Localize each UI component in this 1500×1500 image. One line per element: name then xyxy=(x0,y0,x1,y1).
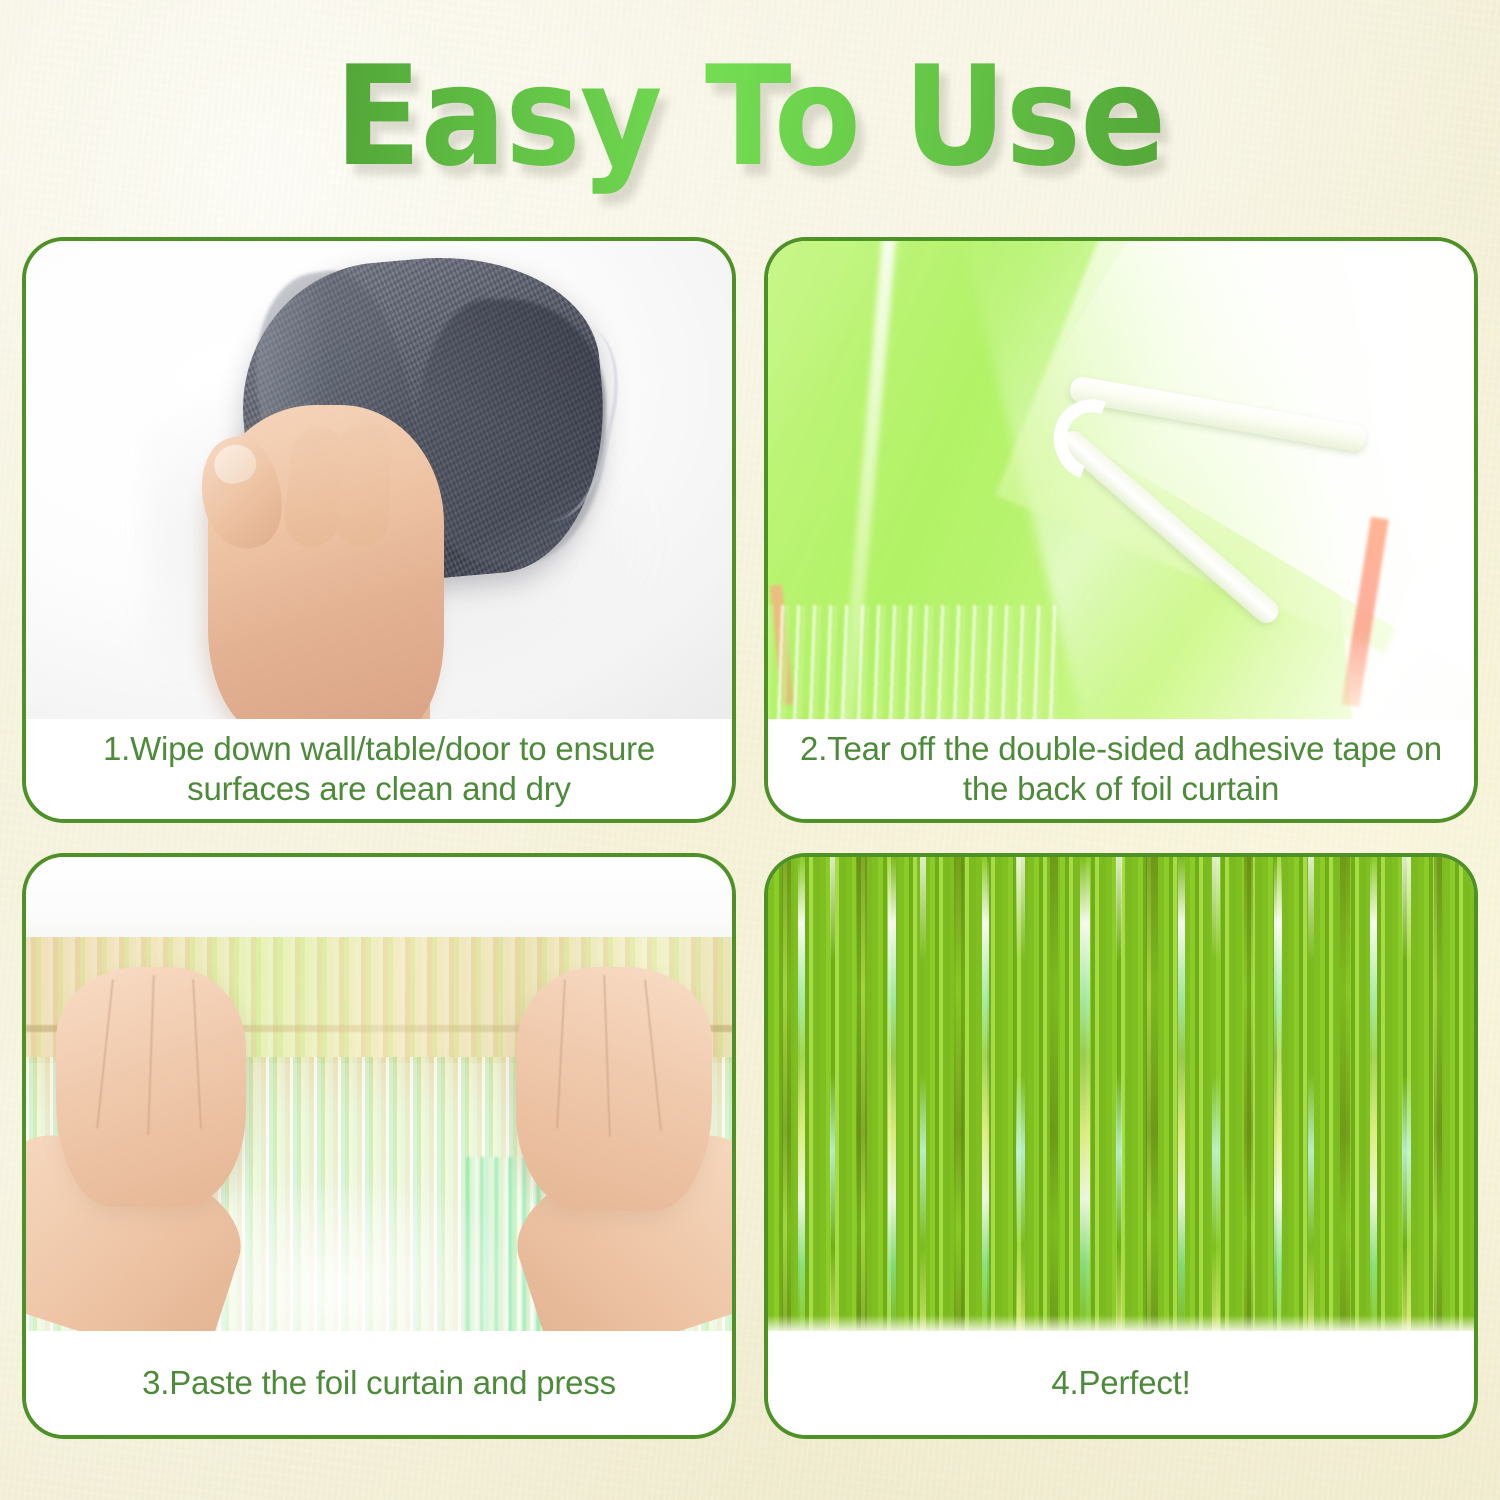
foil-strip-shadow-2 xyxy=(856,857,867,1331)
right-hand xyxy=(516,967,712,1211)
foil-strip-highlight-12 xyxy=(1308,857,1314,1331)
page-title: Easy To Use Easy To Use xyxy=(0,34,1500,204)
foil-strip-highlight-13 xyxy=(1370,857,1377,1331)
foil-strip-highlight-4 xyxy=(920,857,926,1331)
foil-strip-shadow-8 xyxy=(1434,857,1442,1331)
step-card-3: 3.Paste the foil curtain and press xyxy=(22,853,736,1439)
foil-strip-shadow-3 xyxy=(954,857,964,1331)
foil-strip-highlight-9 xyxy=(1178,857,1185,1331)
foil-strip-shadow-1 xyxy=(782,857,791,1331)
foil-bottom-edge xyxy=(768,1315,1474,1331)
step-4-caption: 4.Perfect! xyxy=(1051,1363,1190,1403)
step-3-caption: 3.Paste the foil curtain and press xyxy=(142,1363,616,1403)
step-2-photo xyxy=(768,241,1474,719)
step-1-caption-band: 1.Wipe down wall/table/door to ensure su… xyxy=(26,719,732,819)
page-title-text: Easy To Use xyxy=(60,34,1440,200)
foil-fringe-edge xyxy=(768,605,1058,719)
foil-strip-highlight-2 xyxy=(830,857,835,1331)
step-3-photo xyxy=(26,857,732,1331)
foil-strip-highlight-7 xyxy=(1080,857,1090,1331)
step-4-caption-band: 4.Perfect! xyxy=(768,1331,1474,1435)
steps-grid: 1.Wipe down wall/table/door to ensure su… xyxy=(22,237,1478,1439)
step-card-1: 1.Wipe down wall/table/door to ensure su… xyxy=(22,237,736,823)
foil-strip-shadow-6 xyxy=(1244,857,1253,1331)
foil-strip-highlight-8 xyxy=(1116,857,1122,1331)
step-card-2: 2.Tear off the double-sided adhesive tap… xyxy=(764,237,1478,823)
step-2-caption: 2.Tear off the double-sided adhesive tap… xyxy=(794,729,1448,809)
foil-strip-shadow-4 xyxy=(1050,857,1058,1331)
finger-middle xyxy=(335,420,394,549)
step-1-caption: 1.Wipe down wall/table/door to ensure su… xyxy=(52,729,706,809)
foil-strip-highlight-1 xyxy=(798,857,805,1331)
step-4-photo xyxy=(768,857,1474,1331)
foil-strip-highlight-10 xyxy=(1212,857,1220,1331)
foil-strip-highlight-6 xyxy=(1016,857,1025,1331)
step-3-caption-band: 3.Paste the foil curtain and press xyxy=(26,1331,732,1435)
step-card-4: 4.Perfect! xyxy=(764,853,1478,1439)
foil-strip-highlight-14 xyxy=(1402,857,1411,1331)
foil-strip-highlight-5 xyxy=(982,857,989,1331)
white-wall xyxy=(26,857,732,943)
step-1-photo xyxy=(26,241,732,719)
foil-strip-shadow-5 xyxy=(1146,857,1158,1331)
foil-strip-shadow-7 xyxy=(1340,857,1350,1331)
foil-strip-highlight-3 xyxy=(888,857,896,1331)
step-2-caption-band: 2.Tear off the double-sided adhesive tap… xyxy=(768,719,1474,819)
foil-strip-highlight-11 xyxy=(1274,857,1282,1331)
